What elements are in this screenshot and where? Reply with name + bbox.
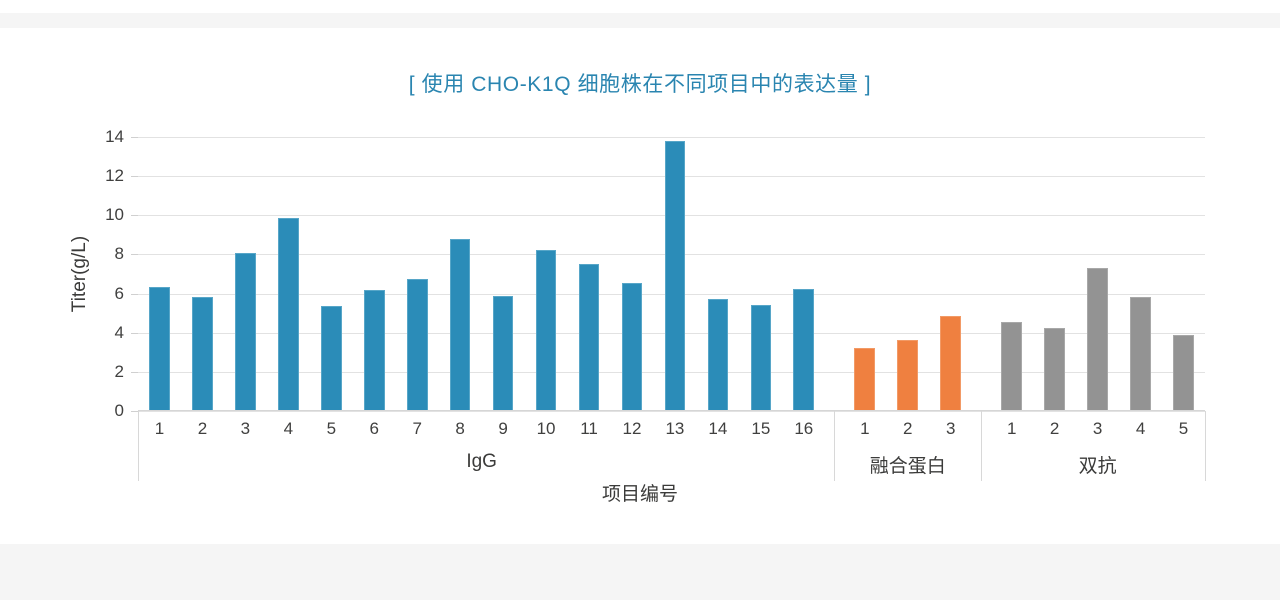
category-axis: 12345678910111213141516IgG123融合蛋白12345双抗 xyxy=(138,411,1205,481)
bar[interactable] xyxy=(1001,322,1022,410)
category-tick-label: 1 xyxy=(155,419,164,439)
bar[interactable] xyxy=(493,296,514,410)
group-label: 融合蛋白 xyxy=(870,451,946,478)
category-separator xyxy=(834,411,835,481)
category-tick-label: 14 xyxy=(708,419,727,439)
bar[interactable] xyxy=(149,287,170,410)
category-tick-label: 3 xyxy=(241,419,250,439)
bar[interactable] xyxy=(579,264,600,410)
y-axis-tick-mark xyxy=(131,215,138,216)
bar[interactable] xyxy=(321,306,342,410)
category-tick-label: 3 xyxy=(1093,419,1102,439)
x-axis-title: 项目编号 xyxy=(602,479,678,506)
category-tick-label: 7 xyxy=(412,419,421,439)
category-tick-label: 12 xyxy=(623,419,642,439)
bar[interactable] xyxy=(192,297,213,411)
category-tick-label: 9 xyxy=(498,419,507,439)
category-tick-label: 3 xyxy=(946,419,955,439)
chart-page: [ 使用 CHO-K1Q 细胞株在不同项目中的表达量 ] 02468101214… xyxy=(0,0,1280,600)
plot-area: Titer(g/L) xyxy=(138,137,1205,411)
category-tick-label: 4 xyxy=(284,419,293,439)
y-axis-tick-mark xyxy=(131,176,138,177)
bar[interactable] xyxy=(450,239,471,410)
category-separator xyxy=(1205,411,1206,481)
category-tick-label: 16 xyxy=(794,419,813,439)
category-tick-label: 6 xyxy=(370,419,379,439)
category-tick-label: 11 xyxy=(580,419,598,439)
bar[interactable] xyxy=(278,218,299,410)
category-tick-label: 8 xyxy=(455,419,464,439)
y-axis-tick-mark xyxy=(131,294,138,295)
bar[interactable] xyxy=(751,305,772,410)
group-label: 双抗 xyxy=(1079,451,1117,478)
bar[interactable] xyxy=(897,340,918,410)
y-axis-title: Titer(g/L) xyxy=(69,124,91,424)
bar-group xyxy=(138,137,1205,411)
category-tick-label: 1 xyxy=(1007,419,1016,439)
x-axis-title-wrapper: 项目编号 xyxy=(0,479,1280,506)
bar[interactable] xyxy=(407,279,428,410)
bar[interactable] xyxy=(708,299,729,410)
category-tick-label: 5 xyxy=(327,419,336,439)
y-axis-tick-mark xyxy=(131,411,138,412)
y-axis-tick-mark xyxy=(131,137,138,138)
category-tick-label: 4 xyxy=(1136,419,1145,439)
category-separator xyxy=(138,411,139,481)
bar[interactable] xyxy=(854,348,875,410)
category-tick-label: 2 xyxy=(198,419,207,439)
bar[interactable] xyxy=(1044,328,1065,410)
bar[interactable] xyxy=(536,250,557,410)
category-tick-label: 5 xyxy=(1179,419,1188,439)
category-tick-label: 2 xyxy=(903,419,912,439)
category-separator xyxy=(981,411,982,481)
group-label: IgG xyxy=(466,451,497,473)
y-axis-tick-mark xyxy=(131,254,138,255)
category-tick-label: 15 xyxy=(751,419,770,439)
category-tick-label: 1 xyxy=(860,419,869,439)
category-tick-label: 13 xyxy=(665,419,684,439)
bar[interactable] xyxy=(940,316,961,410)
category-tick-label: 2 xyxy=(1050,419,1059,439)
bar[interactable] xyxy=(364,290,385,410)
bar[interactable] xyxy=(1173,335,1194,410)
bar[interactable] xyxy=(1130,297,1151,411)
y-axis-tick-mark xyxy=(131,333,138,334)
category-tick-label: 10 xyxy=(537,419,556,439)
bar[interactable] xyxy=(235,253,256,410)
bar[interactable] xyxy=(665,141,686,410)
bar[interactable] xyxy=(793,289,814,410)
y-axis-tick-mark xyxy=(131,372,138,373)
bar[interactable] xyxy=(622,283,643,410)
bar[interactable] xyxy=(1087,268,1108,410)
